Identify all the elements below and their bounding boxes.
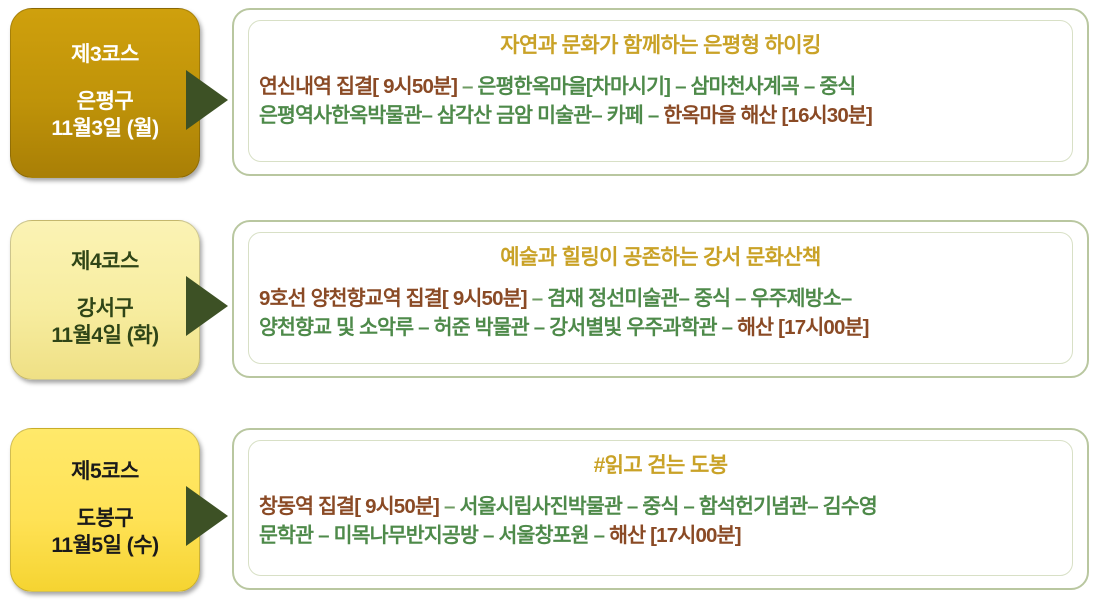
badge-district: 은평구 (77, 89, 133, 115)
itinerary-segment: – (527, 287, 547, 310)
course-badge-wrap: 제5코스 도봉구 11월5일 (수) (0, 428, 232, 592)
itinerary-segment: 해산 [17시00분] (737, 316, 869, 339)
itinerary-segment: 문학관 – 미목나무반지공방 – 서울창포원 – (259, 524, 609, 547)
course-badge-4[interactable]: 제4코스 강서구 11월4일 (화) (10, 220, 200, 380)
itinerary-line: 연신내역 집결[ 9시50분] – 은평한옥마을[차마시기] – 삼마천사계곡 … (259, 72, 1062, 101)
itinerary-segment: 양천향교 및 소악루 – 허준 박물관 – 강서별빛 우주과학관 – (259, 316, 737, 339)
badge-district: 강서구 (77, 296, 133, 322)
course-badge-3[interactable]: 제3코스 은평구 11월3일 (월) (10, 8, 200, 178)
itinerary-segment: 창동역 집결[ 9시50분] (259, 495, 439, 518)
course-row: 제4코스 강서구 11월4일 (화) 예술과 힐링이 공존하는 강서 문화산책 … (0, 206, 1099, 398)
badge-course-label: 제4코스 (71, 249, 139, 274)
itinerary-segment: 은평역사한옥박물관– 삼각산 금암 미술관– 카페 – (259, 104, 663, 127)
arrow-right-icon (186, 486, 228, 546)
itinerary-line: 문학관 – 미목나무반지공방 – 서울창포원 – 해산 [17시00분] (259, 521, 1062, 550)
itinerary-line: 9호선 양천향교역 집결[ 9시50분] – 겸재 정선미술관– 중식 – 우주… (259, 284, 1062, 313)
course-card-4: 예술과 힐링이 공존하는 강서 문화산책 9호선 양천향교역 집결[ 9시50분… (232, 220, 1089, 378)
itinerary-line: 은평역사한옥박물관– 삼각산 금암 미술관– 카페 – 한옥마을 해산 [16시… (259, 101, 1062, 130)
badge-course-label: 제5코스 (71, 459, 139, 484)
itinerary-segment: 한옥마을 해산 [16시30분] (663, 104, 872, 127)
course-title: 예술과 힐링이 공존하는 강서 문화산책 (257, 245, 1064, 270)
itinerary-segment: 해산 [17시00분] (609, 524, 741, 547)
course-itinerary: 창동역 집결[ 9시50분] – 서울시립사진박물관 – 중식 – 함석헌기념관… (257, 492, 1064, 550)
course-card-5: #읽고 걷는 도봉 창동역 집결[ 9시50분] – 서울시립사진박물관 – 중… (232, 428, 1089, 590)
itinerary-line: 양천향교 및 소악루 – 허준 박물관 – 강서별빛 우주과학관 – 해산 [1… (259, 313, 1062, 342)
itinerary-segment: 서울시립사진박물관 – 중식 – 함석헌기념관– 김수영 (459, 495, 876, 518)
course-card-inner: 자연과 문화가 함께하는 은평형 하이킹 연신내역 집결[ 9시50분] – 은… (248, 20, 1073, 162)
badge-date: 11월5일 (수) (51, 533, 158, 559)
course-card-3: 자연과 문화가 함께하는 은평형 하이킹 연신내역 집결[ 9시50분] – 은… (232, 8, 1089, 176)
badge-district: 도봉구 (77, 506, 133, 532)
arrow-right-icon (186, 70, 228, 130)
itinerary-segment: – (439, 495, 459, 518)
course-card-inner: #읽고 걷는 도봉 창동역 집결[ 9시50분] – 서울시립사진박물관 – 중… (248, 440, 1073, 576)
badge-course-label: 제3코스 (71, 42, 139, 67)
itinerary-segment: 9호선 양천향교역 집결[ 9시50분] (259, 287, 527, 310)
course-itinerary: 연신내역 집결[ 9시50분] – 은평한옥마을[차마시기] – 삼마천사계곡 … (257, 72, 1064, 130)
course-card-inner: 예술과 힐링이 공존하는 강서 문화산책 9호선 양천향교역 집결[ 9시50분… (248, 232, 1073, 364)
badge-date: 11월3일 (월) (51, 116, 158, 142)
course-itinerary: 9호선 양천향교역 집결[ 9시50분] – 겸재 정선미술관– 중식 – 우주… (257, 284, 1064, 342)
course-row: 제3코스 은평구 11월3일 (월) 자연과 문화가 함께하는 은평형 하이킹 … (0, 0, 1099, 192)
course-title: 자연과 문화가 함께하는 은평형 하이킹 (257, 33, 1064, 58)
arrow-right-icon (186, 276, 228, 336)
itinerary-segment: 은평한옥마을[차마시기] – 삼마천사계곡 – 중식 (478, 75, 856, 98)
itinerary-segment: 겸재 정선미술관– 중식 – 우주제방소– (547, 287, 851, 310)
itinerary-line: 창동역 집결[ 9시50분] – 서울시립사진박물관 – 중식 – 함석헌기념관… (259, 492, 1062, 521)
course-badge-5[interactable]: 제5코스 도봉구 11월5일 (수) (10, 428, 200, 592)
badge-date: 11월4일 (화) (51, 323, 158, 349)
itinerary-segment: 연신내역 집결[ 9시50분] (259, 75, 457, 98)
course-schedule-board: 제3코스 은평구 11월3일 (월) 자연과 문화가 함께하는 은평형 하이킹 … (0, 0, 1099, 607)
course-badge-wrap: 제4코스 강서구 11월4일 (화) (0, 220, 232, 380)
course-badge-wrap: 제3코스 은평구 11월3일 (월) (0, 8, 232, 178)
itinerary-segment: – (457, 75, 477, 98)
course-row: 제5코스 도봉구 11월5일 (수) #읽고 걷는 도봉 창동역 집결[ 9시5… (0, 412, 1099, 604)
course-title: #읽고 걷는 도봉 (257, 453, 1064, 478)
